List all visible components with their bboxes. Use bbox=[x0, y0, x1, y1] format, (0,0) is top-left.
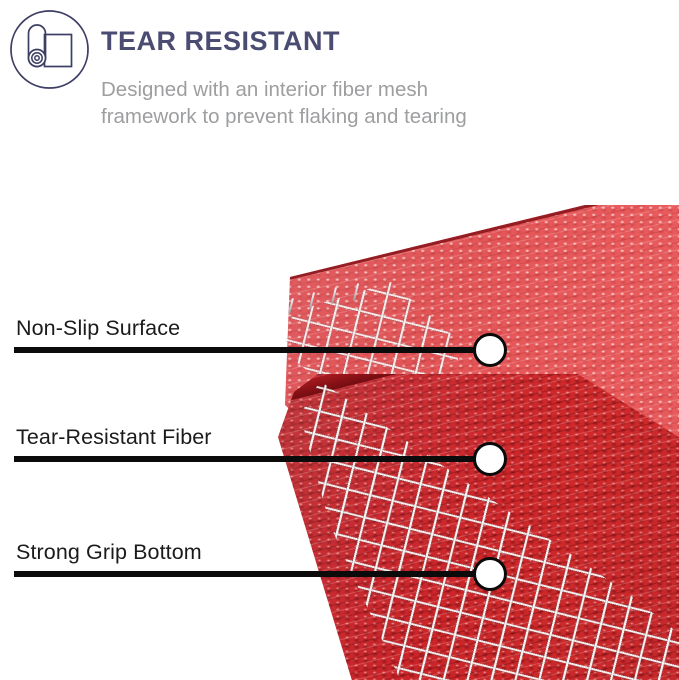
callout-dot-tear-resistant-fiber bbox=[473, 442, 507, 476]
page-title: TEAR RESISTANT bbox=[101, 26, 340, 57]
callout-line-tear-resistant-fiber bbox=[14, 456, 479, 462]
mat-bottom-shading bbox=[278, 362, 679, 680]
mat-bottom-layer bbox=[278, 362, 679, 680]
infographic-page: TEAR RESISTANT Designed with an interior… bbox=[0, 0, 679, 680]
callout-dot-non-slip-surface bbox=[473, 333, 507, 367]
callout-dot-strong-grip-bottom bbox=[473, 557, 507, 591]
page-description: Designed with an interior fiber mesh fra… bbox=[101, 76, 471, 130]
product-photo bbox=[0, 150, 679, 680]
callout-line-strong-grip-bottom bbox=[14, 571, 479, 577]
callout-label-non-slip-surface: Non-Slip Surface bbox=[16, 316, 180, 341]
callout-label-strong-grip-bottom: Strong Grip Bottom bbox=[16, 540, 202, 565]
callout-label-tear-resistant-fiber: Tear-Resistant Fiber bbox=[16, 425, 212, 450]
callout-line-non-slip-surface bbox=[14, 347, 479, 353]
header-section: TEAR RESISTANT Designed with an interior… bbox=[0, 0, 679, 175]
mat-roll-icon bbox=[9, 9, 90, 90]
